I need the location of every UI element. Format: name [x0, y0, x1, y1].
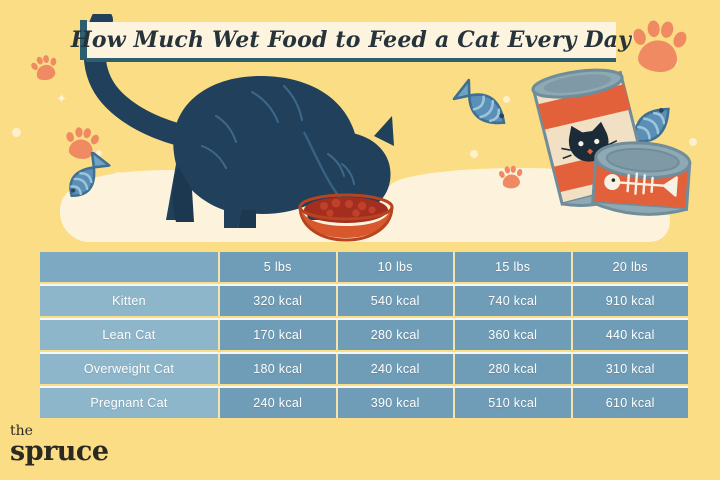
table-cell: 310 kcal: [571, 354, 689, 384]
sparkle-icon: ✦: [380, 128, 391, 141]
table-row: Overweight Cat 180 kcal 240 kcal 280 kca…: [40, 352, 688, 384]
table-cell: 280 kcal: [453, 354, 571, 384]
row-label-lean-cat: Lean Cat: [40, 320, 218, 350]
table-cell: 240 kcal: [336, 354, 454, 384]
table-cell: 280 kcal: [336, 320, 454, 350]
fish-icon: [614, 86, 694, 160]
column-header-5lbs: 5 lbs: [218, 252, 336, 282]
table-cell: 910 kcal: [571, 286, 689, 316]
table-row: Lean Cat 170 kcal 280 kcal 360 kcal 440 …: [40, 318, 688, 350]
table-cell: 440 kcal: [571, 320, 689, 350]
table-cell: 170 kcal: [218, 320, 336, 350]
fish-icon: [54, 152, 114, 208]
infographic-canvas: ✦ ✦ ✦ ✦ ✦: [0, 0, 720, 480]
table-cell: 610 kcal: [571, 388, 689, 418]
decor-dot: [444, 206, 450, 212]
feeding-chart-table: 5 lbs 10 lbs 15 lbs 20 lbs Kitten 320 kc…: [40, 252, 688, 418]
row-label-overweight-cat: Overweight Cat: [40, 354, 218, 384]
table-cell: 320 kcal: [218, 286, 336, 316]
table-cell: 390 kcal: [336, 388, 454, 418]
page-title: How Much Wet Food to Feed a Cat Every Da…: [86, 22, 616, 58]
table-row: Kitten 320 kcal 540 kcal 740 kcal 910 kc…: [40, 284, 688, 316]
row-label-kitten: Kitten: [40, 286, 218, 316]
table-cell: 360 kcal: [453, 320, 571, 350]
decor-dot: [470, 150, 478, 158]
table-cell: 240 kcal: [218, 388, 336, 418]
row-label-pregnant-cat: Pregnant Cat: [40, 388, 218, 418]
decor-dot: [12, 128, 21, 137]
column-header-20lbs: 20 lbs: [571, 252, 689, 282]
sparkle-icon: ✦: [126, 230, 137, 243]
title-banner: How Much Wet Food to Feed a Cat Every Da…: [86, 22, 616, 58]
table-cell: 180 kcal: [218, 354, 336, 384]
decor-dot: [120, 108, 129, 117]
sparkle-icon: ✦: [566, 222, 577, 235]
fish-icon: [452, 76, 526, 146]
table-header-row: 5 lbs 10 lbs 15 lbs 20 lbs: [40, 252, 688, 282]
table-cell: 510 kcal: [453, 388, 571, 418]
floor-patch: [60, 186, 670, 242]
brand-logo-line2: spruce: [10, 438, 109, 465]
table-row: Pregnant Cat 240 kcal 390 kcal 510 kcal …: [40, 386, 688, 418]
sparkle-icon: ✦: [56, 92, 67, 105]
brand-logo: the spruce: [10, 424, 109, 465]
table-cell: 540 kcal: [336, 286, 454, 316]
decor-ring: [482, 188, 496, 202]
table-corner-cell: [40, 252, 218, 282]
column-header-10lbs: 10 lbs: [336, 252, 454, 282]
table-cell: 740 kcal: [453, 286, 571, 316]
column-header-15lbs: 15 lbs: [453, 252, 571, 282]
